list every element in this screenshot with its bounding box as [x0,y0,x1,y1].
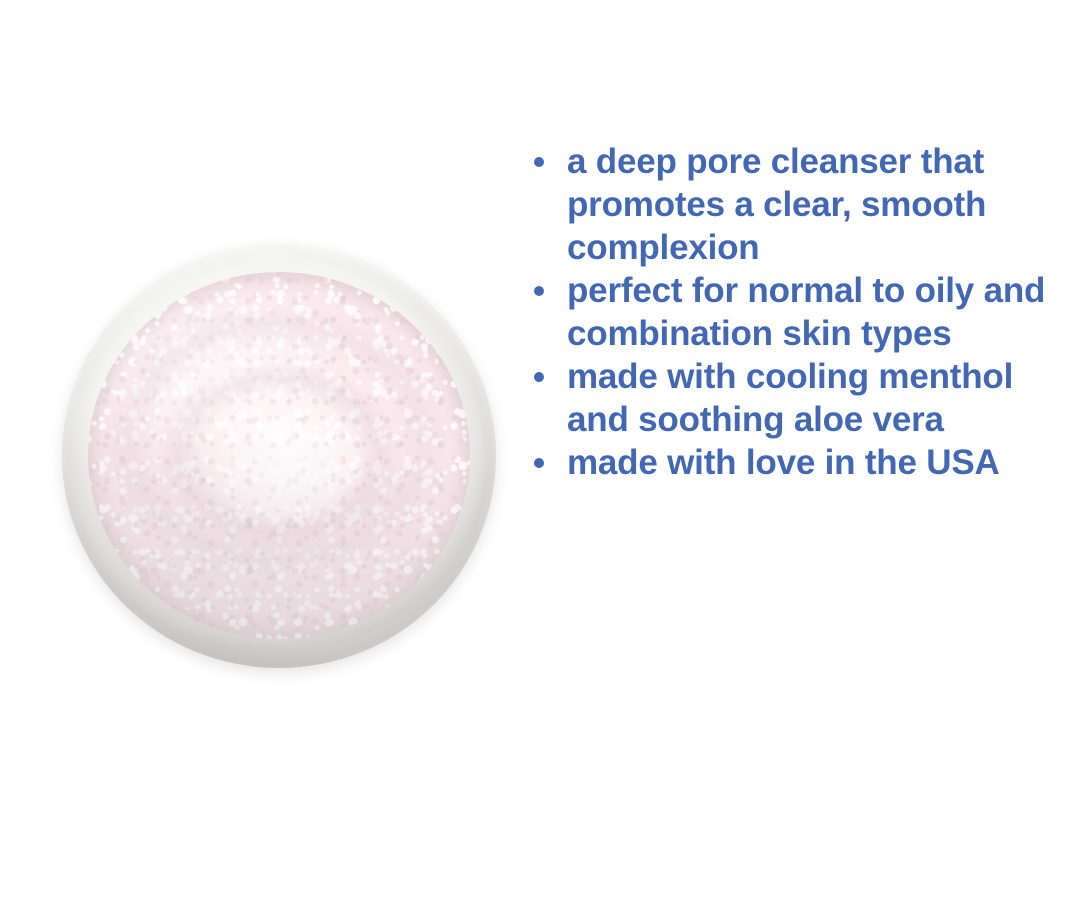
bullet-text: made with love in the USA [567,441,1069,484]
powder-surface [88,272,470,639]
bullet-dot-icon [534,286,544,296]
bullet-dot-icon [534,372,544,382]
list-item: perfect for normal to oily and combinati… [531,269,1069,355]
list-item: made with cooling menthol and soothing a… [531,355,1069,441]
bullet-text: made with cooling menthol and soothing a… [567,355,1069,441]
bullet-dot-icon [534,157,544,167]
bullet-text: perfect for normal to oily and combinati… [567,269,1069,355]
product-image-powder-dish [62,244,496,668]
bullet-text: a deep pore cleanser that promotes a cle… [567,140,1069,269]
list-item: made with love in the USA [531,441,1069,484]
dish-rim [62,244,496,668]
product-feature-panel: a deep pore cleanser that promotes a cle… [0,0,1069,913]
list-item: a deep pore cleanser that promotes a cle… [531,140,1069,269]
feature-bullet-list: a deep pore cleanser that promotes a cle… [531,140,1069,484]
bullet-dot-icon [534,458,544,468]
